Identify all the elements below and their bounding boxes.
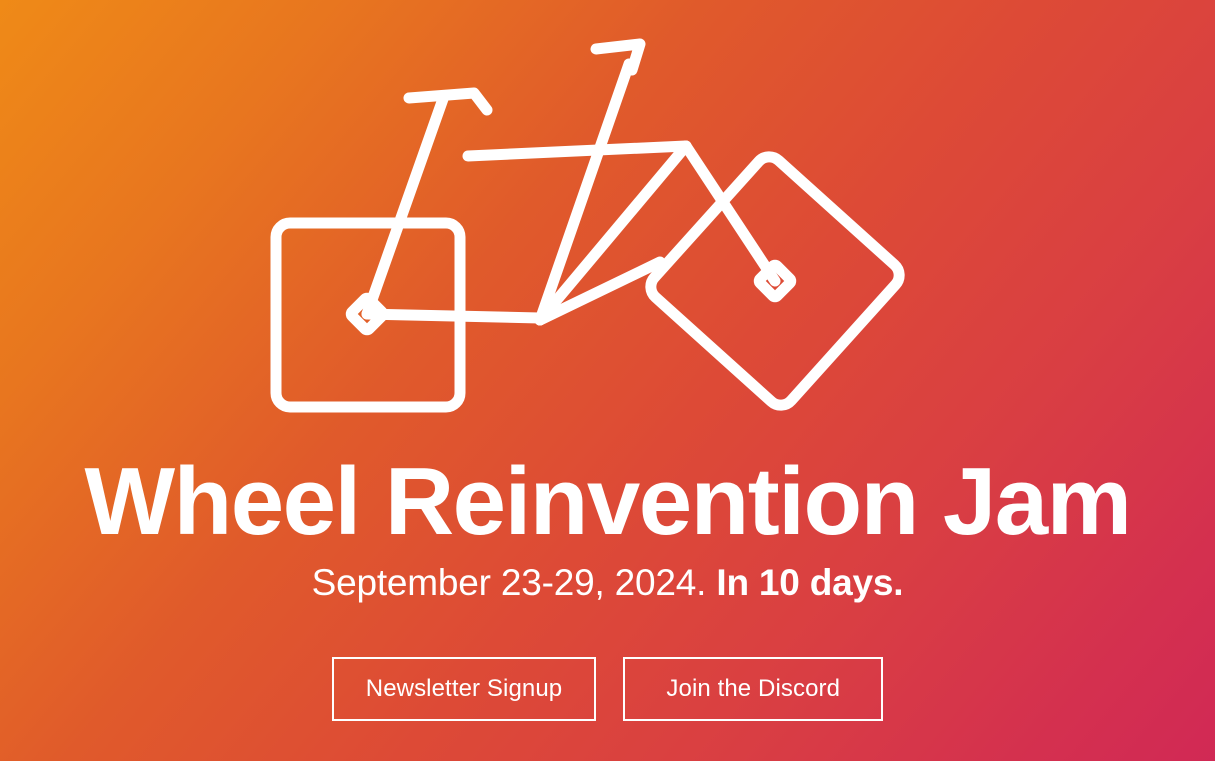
front-square-wheel-icon (276, 223, 460, 407)
rear-square-wheel-icon (645, 151, 905, 411)
rear-hub-diamond-icon (758, 264, 792, 298)
cta-button-group: Newsletter Signup Join the Discord (0, 657, 1215, 721)
event-countdown: In 10 days. (716, 562, 903, 603)
frame-down-tube-icon (540, 146, 686, 320)
newsletter-signup-button[interactable]: Newsletter Signup (332, 657, 596, 721)
seatstay-icon (686, 146, 775, 281)
event-date-range: September 23-29, 2024. (312, 562, 707, 603)
handlebar-icon (409, 93, 487, 110)
join-discord-button[interactable]: Join the Discord (623, 657, 883, 721)
chainstay-icon (367, 314, 540, 318)
fork-icon (367, 99, 443, 314)
frame-top-tube-icon (468, 146, 686, 156)
hero-section: Wheel Reinvention Jam September 23-29, 2… (0, 0, 1215, 761)
page-title: Wheel Reinvention Jam (0, 446, 1215, 558)
bicycle-illustration (0, 0, 1215, 440)
frame-seat-tube-icon (540, 64, 629, 320)
bicycle-svg (0, 0, 1215, 440)
saddle-icon (596, 44, 640, 70)
front-hub-diamond-icon (350, 297, 384, 331)
rear-stay-icon (540, 262, 660, 320)
event-dates-subtitle: September 23-29, 2024. In 10 days. (0, 560, 1215, 606)
